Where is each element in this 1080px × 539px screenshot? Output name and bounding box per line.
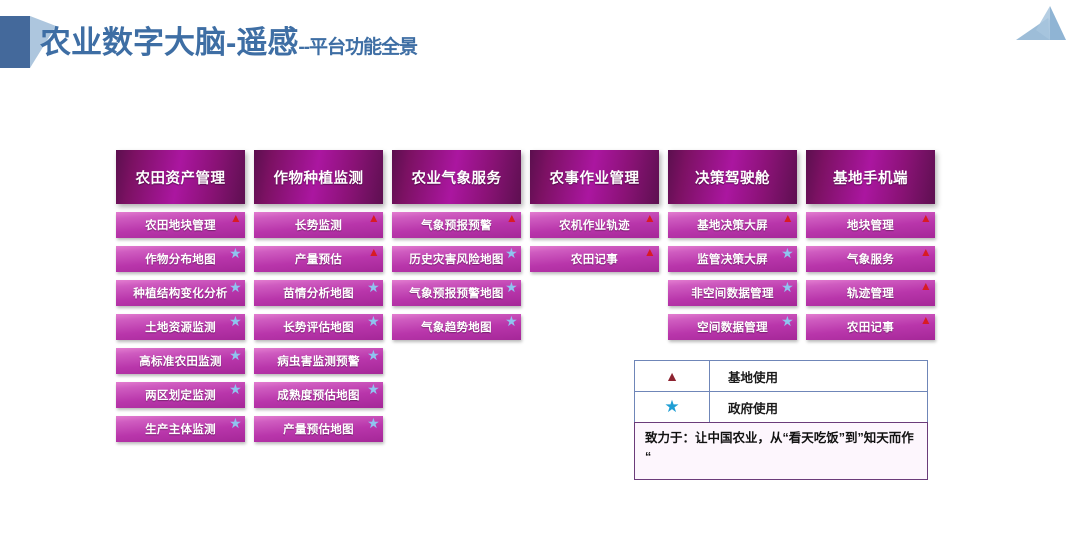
base-use-triangle-icon: ▲ [368,212,380,224]
page-title-main: 农业数字大脑-遥感 [40,25,298,60]
gov-use-star-icon: ★ [367,281,380,293]
base-use-triangle-icon: ▲ [644,212,656,224]
gov-use-star-icon: ★ [367,383,380,395]
column-header[interactable]: 决策驾驶舱 [668,150,797,204]
matrix-column: 农业气象服务气象预报预警▲历史灾害风险地图★气象预报预警地图★气象趋势地图★ [388,150,525,450]
matrix-column: 农田资产管理农田地块管理▲作物分布地图★种植结构变化分析★土地资源监测★高标准农… [112,150,249,450]
function-cell[interactable]: 农田地块管理▲ [116,212,245,238]
gov-use-star-icon: ★ [505,281,518,293]
function-cell-label: 空间数据管理 [697,319,768,335]
gov-use-star-icon: ★ [367,315,380,327]
gov-use-star-icon: ★ [505,247,518,259]
page-title-sub: --平台功能全景 [298,37,417,58]
function-cell-label: 两区划定监测 [145,387,216,403]
function-cell[interactable]: 气象预报预警地图★ [392,280,521,306]
gov-use-star-icon: ★ [505,315,518,327]
function-cell[interactable]: 土地资源监测★ [116,314,245,340]
gov-use-star-icon: ★ [229,349,242,361]
legend-row-base: ▲ 基地使用 [635,361,928,392]
column-header[interactable]: 农事作业管理 [530,150,659,204]
function-cell-label: 气象服务 [847,251,894,267]
base-use-triangle-icon: ▲ [230,212,242,224]
gov-use-star-icon: ★ [229,383,242,395]
legend-label-gov: 政府使用 [710,392,928,423]
gov-use-star-icon: ★ [367,417,380,429]
function-cell[interactable]: 空间数据管理★ [668,314,797,340]
function-cell[interactable]: 气象趋势地图★ [392,314,521,340]
gov-use-star-icon: ★ [229,417,242,429]
function-cell[interactable]: 作物分布地图★ [116,246,245,272]
page-title: 农业数字大脑-遥感--平台功能全景 [40,27,417,58]
function-cell-label: 非空间数据管理 [691,285,774,301]
legend-table: ▲ 基地使用 ★ 政府使用 [634,360,928,423]
function-cell-label: 种植结构变化分析 [133,285,227,301]
function-cell[interactable]: 监管决策大屏★ [668,246,797,272]
base-use-triangle-icon: ▲ [782,212,794,224]
function-cell[interactable]: 农田记事▲ [806,314,935,340]
function-cell-label: 土地资源监测 [145,319,216,335]
gov-use-star-icon: ★ [367,349,380,361]
legend-star-icon: ★ [635,392,710,423]
function-cell-label: 历史灾害风险地图 [409,251,503,267]
legend-label-base: 基地使用 [710,361,928,392]
function-cell[interactable]: 历史灾害风险地图★ [392,246,521,272]
column-header[interactable]: 作物种植监测 [254,150,383,204]
function-cell[interactable]: 农田记事▲ [530,246,659,272]
function-cell-label: 气象趋势地图 [421,319,492,335]
title-accent-block [0,16,30,68]
gov-use-star-icon: ★ [781,247,794,259]
gov-use-star-icon: ★ [229,247,242,259]
function-cell-label: 高标准农田监测 [139,353,222,369]
function-cell[interactable]: 非空间数据管理★ [668,280,797,306]
function-cell[interactable]: 产量预估▲ [254,246,383,272]
function-cell-label: 成熟度预估地图 [277,387,360,403]
function-cell[interactable]: 成熟度预估地图★ [254,382,383,408]
function-cell[interactable]: 产量预估地图★ [254,416,383,442]
function-cell-label: 长势监测 [295,217,342,233]
function-cell-label: 农机作业轨迹 [559,217,630,233]
function-cell[interactable]: 农机作业轨迹▲ [530,212,659,238]
function-cell-label: 病虫害监测预警 [277,353,360,369]
function-cell[interactable]: 长势评估地图★ [254,314,383,340]
function-cell-label: 轨迹管理 [847,285,894,301]
function-cell[interactable]: 生产主体监测★ [116,416,245,442]
function-cell[interactable]: 基地决策大屏▲ [668,212,797,238]
function-cell-label: 地块管理 [847,217,894,233]
base-use-triangle-icon: ▲ [920,280,932,292]
function-cell-label: 农田地块管理 [145,217,216,233]
legend-triangle-icon: ▲ [635,361,710,392]
function-cell-label: 基地决策大屏 [697,217,768,233]
gov-use-star-icon: ★ [229,281,242,293]
base-use-triangle-icon: ▲ [368,246,380,258]
base-use-triangle-icon: ▲ [644,246,656,258]
gov-use-star-icon: ★ [781,281,794,293]
function-cell-label: 生产主体监测 [145,421,216,437]
function-cell-label: 产量预估地图 [283,421,354,437]
column-header[interactable]: 农田资产管理 [116,150,245,204]
function-cell-label: 监管决策大屏 [697,251,768,267]
function-cell[interactable]: 种植结构变化分析★ [116,280,245,306]
gov-use-star-icon: ★ [229,315,242,327]
legend-row-gov: ★ 政府使用 [635,392,928,423]
base-use-triangle-icon: ▲ [920,314,932,326]
mission-statement: 致力于：让中国农业，从“看天吃饭”到”知天而作“ [634,422,928,480]
function-cell-label: 气象预报预警地图 [409,285,503,301]
column-header[interactable]: 农业气象服务 [392,150,521,204]
column-header[interactable]: 基地手机端 [806,150,935,204]
gov-use-star-icon: ★ [781,315,794,327]
base-use-triangle-icon: ▲ [920,246,932,258]
legend-panel: ▲ 基地使用 ★ 政府使用 致力于：让中国农业，从“看天吃饭”到”知天而作“ [634,360,928,480]
function-cell[interactable]: 轨迹管理▲ [806,280,935,306]
function-cell[interactable]: 两区划定监测★ [116,382,245,408]
function-cell[interactable]: 气象预报预警▲ [392,212,521,238]
function-cell-label: 产量预估 [295,251,342,267]
matrix-column: 作物种植监测长势监测▲产量预估▲苗情分析地图★长势评估地图★病虫害监测预警★成熟… [250,150,387,450]
function-cell-label: 农田记事 [571,251,618,267]
function-cell-label: 气象预报预警 [421,217,492,233]
function-cell-label: 苗情分析地图 [283,285,354,301]
function-cell-label: 作物分布地图 [145,251,216,267]
base-use-triangle-icon: ▲ [920,212,932,224]
page-title-bar: 农业数字大脑-遥感--平台功能全景 [0,14,417,70]
function-cell[interactable]: 地块管理▲ [806,212,935,238]
origami-decoration [986,0,1072,48]
function-cell[interactable]: 病虫害监测预警★ [254,348,383,374]
function-cell[interactable]: 长势监测▲ [254,212,383,238]
function-cell-label: 长势评估地图 [283,319,354,335]
function-cell[interactable]: 苗情分析地图★ [254,280,383,306]
function-cell[interactable]: 高标准农田监测★ [116,348,245,374]
function-cell[interactable]: 气象服务▲ [806,246,935,272]
function-cell-label: 农田记事 [847,319,894,335]
base-use-triangle-icon: ▲ [506,212,518,224]
